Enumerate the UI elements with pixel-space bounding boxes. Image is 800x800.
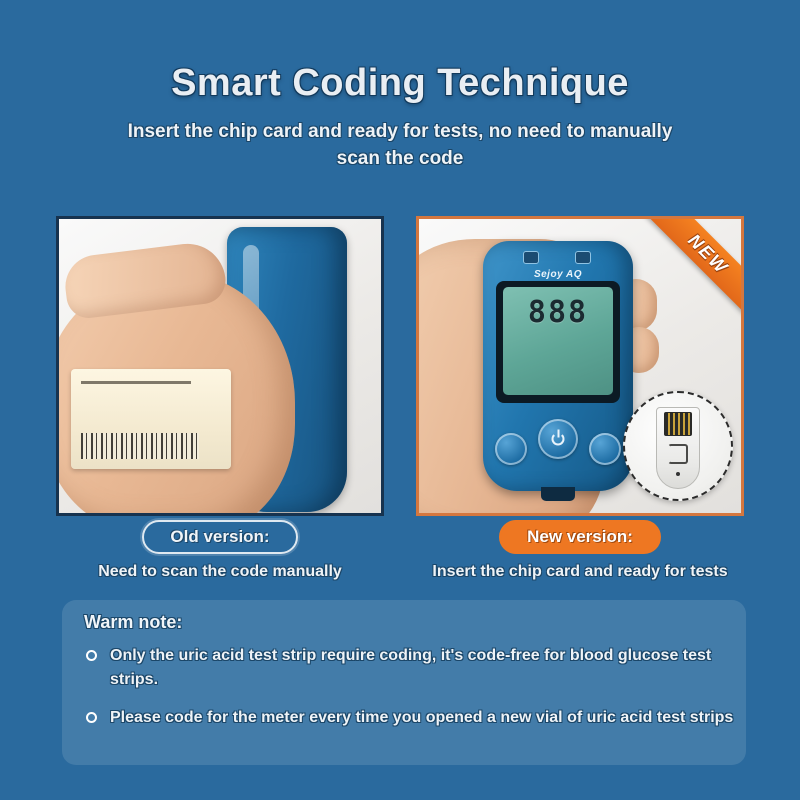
warm-note-title: Warm note: <box>84 612 182 633</box>
bullet-icon <box>86 650 97 661</box>
new-version-badge: New version: <box>499 520 661 554</box>
photo-new-version-content: Sejoy AQ 888 <box>419 219 741 513</box>
barcode-icon <box>81 433 199 459</box>
subtitle-line-2: scan the code <box>0 145 800 173</box>
version-labels: Old version: Need to scan the code manua… <box>0 520 800 586</box>
bullet-icon <box>86 712 97 723</box>
warm-note-item-2: Please code for the meter every time you… <box>84 706 734 730</box>
meter-top-button-right <box>575 251 591 264</box>
old-version-caption: Need to scan the code manually <box>40 563 400 581</box>
chip-card <box>656 407 700 489</box>
chip-card-callout <box>623 391 733 501</box>
photo-old-version-content <box>59 219 381 513</box>
strip-vial-label <box>71 369 231 469</box>
meter-brand-label: Sejoy AQ <box>483 269 633 280</box>
new-ribbon: NEW <box>644 219 741 318</box>
infographic-page: Smart Coding Technique Insert the chip c… <box>0 0 800 800</box>
meter-left-button <box>495 433 527 465</box>
chip-dot-icon <box>676 472 680 476</box>
meter-top-button-left <box>523 251 539 264</box>
subtitle-line-1: Insert the chip card and ready for tests… <box>0 118 800 146</box>
meter-power-button <box>538 419 578 459</box>
chip-spiral-icon <box>668 444 688 464</box>
comparison-panels: Sejoy AQ 888 <box>0 216 800 516</box>
new-version-caption: Insert the chip card and ready for tests <box>400 563 760 581</box>
photo-new-version: Sejoy AQ 888 <box>416 216 744 516</box>
warm-note-item-1: Only the uric acid test strip require co… <box>84 644 734 692</box>
warm-note-item-2-text: Please code for the meter every time you… <box>110 709 733 726</box>
meter-right-button <box>589 433 621 465</box>
warm-note-panel: Warm note: Only the uric acid test strip… <box>62 600 746 765</box>
power-icon <box>552 433 565 446</box>
meter-lcd-screen: 888 <box>503 287 613 395</box>
photo-old-version <box>56 216 384 516</box>
warm-note-item-1-text: Only the uric acid test strip require co… <box>110 647 711 688</box>
old-version-badge: Old version: <box>142 520 297 554</box>
page-subtitle: Insert the chip card and ready for tests… <box>0 118 800 173</box>
vial-label-text <box>81 381 191 389</box>
old-version-label-group: Old version: Need to scan the code manua… <box>40 520 400 581</box>
header: Smart Coding Technique Insert the chip c… <box>0 62 800 173</box>
warm-note-list: Only the uric acid test strip require co… <box>84 644 734 744</box>
lcd-reading: 888 <box>528 295 588 330</box>
chip-contact-icon <box>664 412 692 436</box>
new-version-label-group: New version: Insert the chip card and re… <box>400 520 760 581</box>
glucose-meter: Sejoy AQ 888 <box>483 241 633 491</box>
meter-strip-port <box>541 487 575 501</box>
page-title: Smart Coding Technique <box>0 62 800 106</box>
